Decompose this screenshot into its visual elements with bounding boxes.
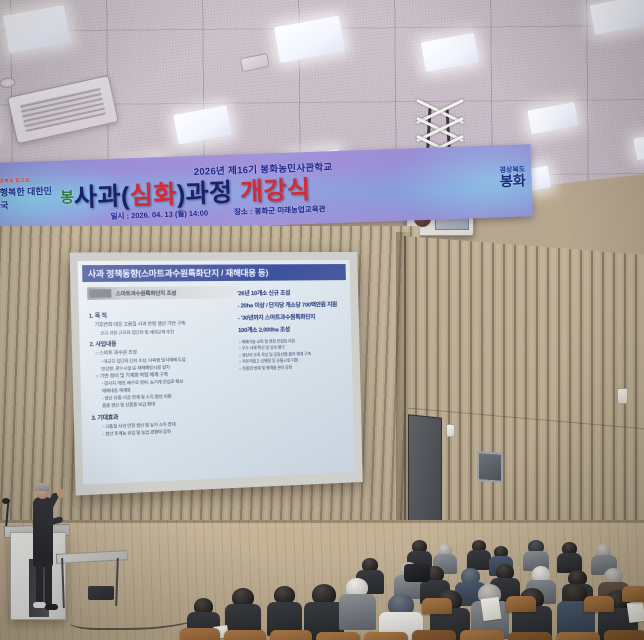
auditorium-photo: 경북의 힘으로 행복한 대한민국 봉 2026년 제16기 봉화농민사관학교 사… [0,0,644,640]
auditorium-seat [584,596,614,612]
auditorium-seat [622,586,644,602]
auditorium-seat [422,598,452,614]
slide-subtext: 신규 과원 규모화·집단화 및 세대교체 추진 [100,328,231,336]
auditorium-seat [270,630,312,640]
stage-edge [0,520,644,523]
logo-mark-text: 봉 [60,186,75,207]
wall-speaker-icon [617,388,628,404]
banner-title-part-2: 심화 [129,181,177,211]
slide-title: 사과 정책동향(스마트과수원특화단지 / 재해대응 등) [82,264,346,282]
wall-window [477,451,503,483]
slide-heading: 2. 사업내용 [89,338,231,349]
auditorium-seat [508,632,552,640]
slide-note: - 20ha 이상 / 단지당 개소당 700백만원 지원 [237,301,351,311]
slide-right-column: '26년 10개소 신규 조성 - 20ha 이상 / 단지당 개소당 700백… [237,286,353,372]
side-exit-door[interactable] [408,414,442,528]
audience-seating [176,540,644,640]
logo-main-text: 행복한 대한민국 [0,184,58,212]
handout-paper [481,597,502,621]
banner-title-part-4: 개강식 [240,176,311,206]
banner-right-block: 경상북도 봉화 [499,166,526,189]
slide-section-chip: 스마트과수원특화단지 조성 [87,286,241,300]
banner-right-big: 봉화 [500,174,526,190]
presenter-shoe [45,604,58,610]
banner-date: 일시 : 2026. 04. 13 (월) 14:00 [110,207,208,221]
slide-heading: 1. 목 적 [89,310,231,320]
banner-place: 장소 : 봉화군 미래농업교육관 [234,203,326,217]
presenter-leg [45,560,52,606]
projection-screen: 사과 정책동향(스마트과수원특화단지 / 재해대응 등) 스마트과수원특화단지 … [78,260,355,485]
auditorium-seat [316,632,360,640]
attendee-torso [339,594,376,630]
presenter-hand [57,489,65,498]
wall-seam [404,236,406,556]
slide-note: - '30년까지 스마트과수원특화단지 [238,313,352,324]
auditorium-seat [180,628,220,640]
auditorium-seat [412,630,456,640]
attendee-torso [467,550,491,570]
presenter-leg [36,560,43,606]
handout-paper [627,601,644,623]
auditorium-seat [506,596,536,612]
projection-screen-frame: 사과 정책동향(스마트과수원특화단지 / 재해대응 등) 스마트과수원특화단지 … [70,252,363,496]
microphone-icon [2,498,10,504]
banner-title-part-1: 사과( [74,182,131,212]
county-logo: 경북의 힘으로 행복한 대한민국 봉 [0,174,74,213]
presenter-hair [35,483,50,491]
wall-speaker-icon [446,424,455,437]
banner-title-part-3: )과정 [176,178,240,208]
auditorium-seat [364,632,408,640]
auditorium-seat [604,630,644,640]
slide-note: 100개소 2,000ha 조성 [238,325,352,336]
slide-note: '26년 10개소 신규 조성 [237,289,351,299]
auditorium-seat [556,632,600,640]
auditorium-seat [224,630,266,640]
auditorium-seat [460,630,504,640]
slide-left-column: 1. 목 적 기후변화 대응 고품질 사과 안정 생산 기반 구축 신규 과원 … [89,306,234,439]
attendee-bag [404,564,430,582]
